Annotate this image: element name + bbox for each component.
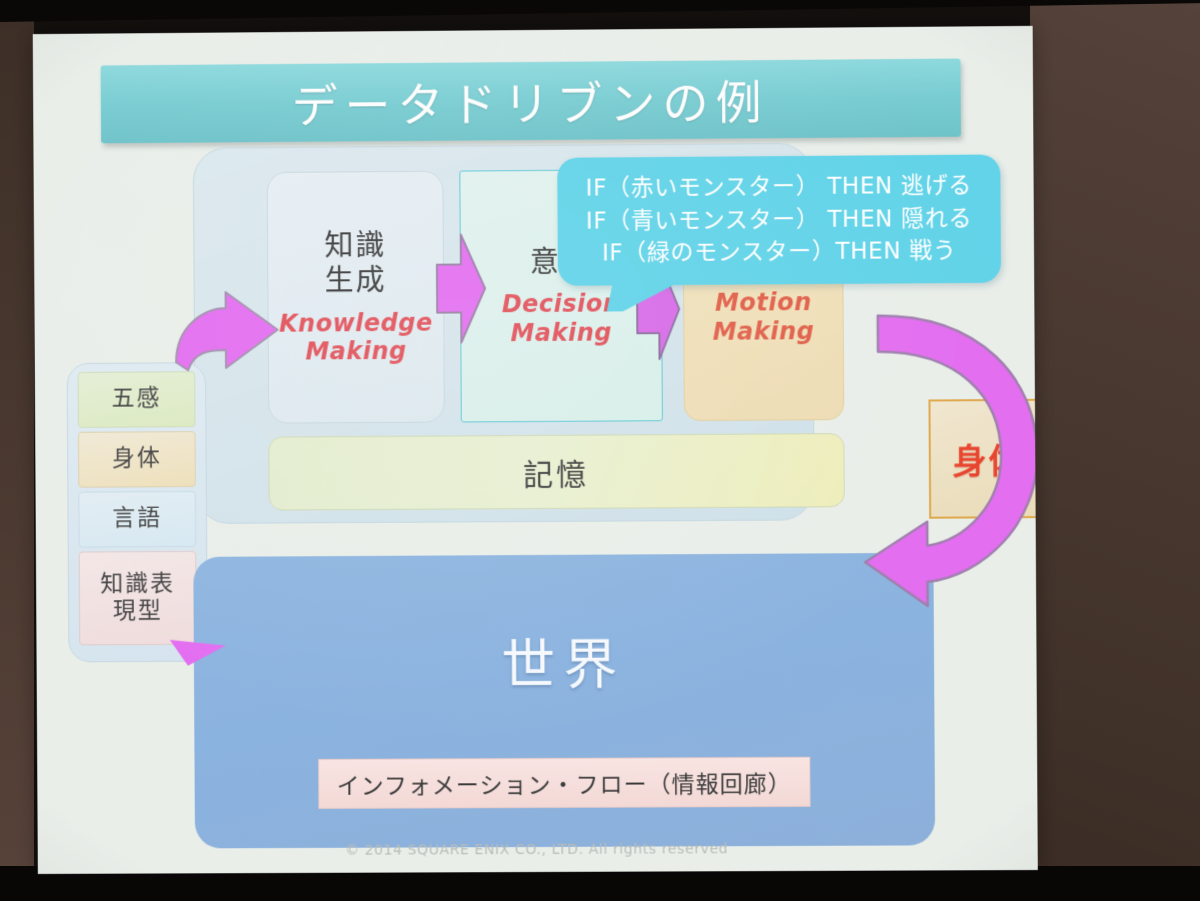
arrow-motion-to-world-loop-icon [860,308,1038,610]
decision-en-label: Decision Making [502,289,621,347]
memory-label: 記憶 [523,450,589,494]
page-title: データドリブンの例 [291,66,768,136]
wall-left [0,18,34,878]
wall-right [1030,0,1200,866]
callout-tail [607,281,681,312]
process-knowledge-making[interactable]: 知識 生成 Knowledge Making [267,171,445,424]
sensor-item-gengo[interactable]: 言語 [78,491,196,548]
rule-line-2: IF（青いモンスター） THEN 隠れる [586,202,972,238]
arrow-sensors-to-knowledge-icon [174,290,284,386]
sensor-input-column: 五感 身体 言語 知識表現型 [67,362,208,662]
projector-photo: データドリブンの例 知識 生成 Knowledge Making 意思 Deci… [0,0,1200,901]
world-box[interactable]: 世界 インフォメーション・フロー（情報回廊） [193,553,935,849]
arrow-world-to-sensors-tip-icon [170,636,230,670]
rule-line-3: IF（緑のモンスター）THEN 戦う [602,235,957,270]
motion-en-label: Motion Making [712,288,814,346]
sensor-item-shintai[interactable]: 身体 [78,431,196,488]
world-label: 世界 [501,620,626,700]
knowledge-en-label: Knowledge Making [279,308,433,367]
copyright-footer: © 2014 SQUARE ENIX CO., LTD. All rights … [38,840,1038,860]
rules-callout: IF（赤いモンスター） THEN 逃げる IF（青いモンスター） THEN 隠れ… [557,154,1001,285]
slide-title-bar: データドリブンの例 [101,59,961,144]
wall-top [0,0,1200,22]
presentation-slide: データドリブンの例 知識 生成 Knowledge Making 意思 Deci… [33,26,1038,874]
rule-line-1: IF（赤いモンスター） THEN 逃げる [586,170,972,206]
memory-bar[interactable]: 記憶 [268,433,845,510]
arrow-knowledge-to-decision-icon [431,230,490,346]
information-flow-label: インフォメーション・フロー（情報回廊） [318,756,811,808]
sensor-item-chishiki-hyougengata[interactable]: 知識表現型 [79,551,197,645]
knowledge-jp-label: 知識 生成 [324,228,386,299]
